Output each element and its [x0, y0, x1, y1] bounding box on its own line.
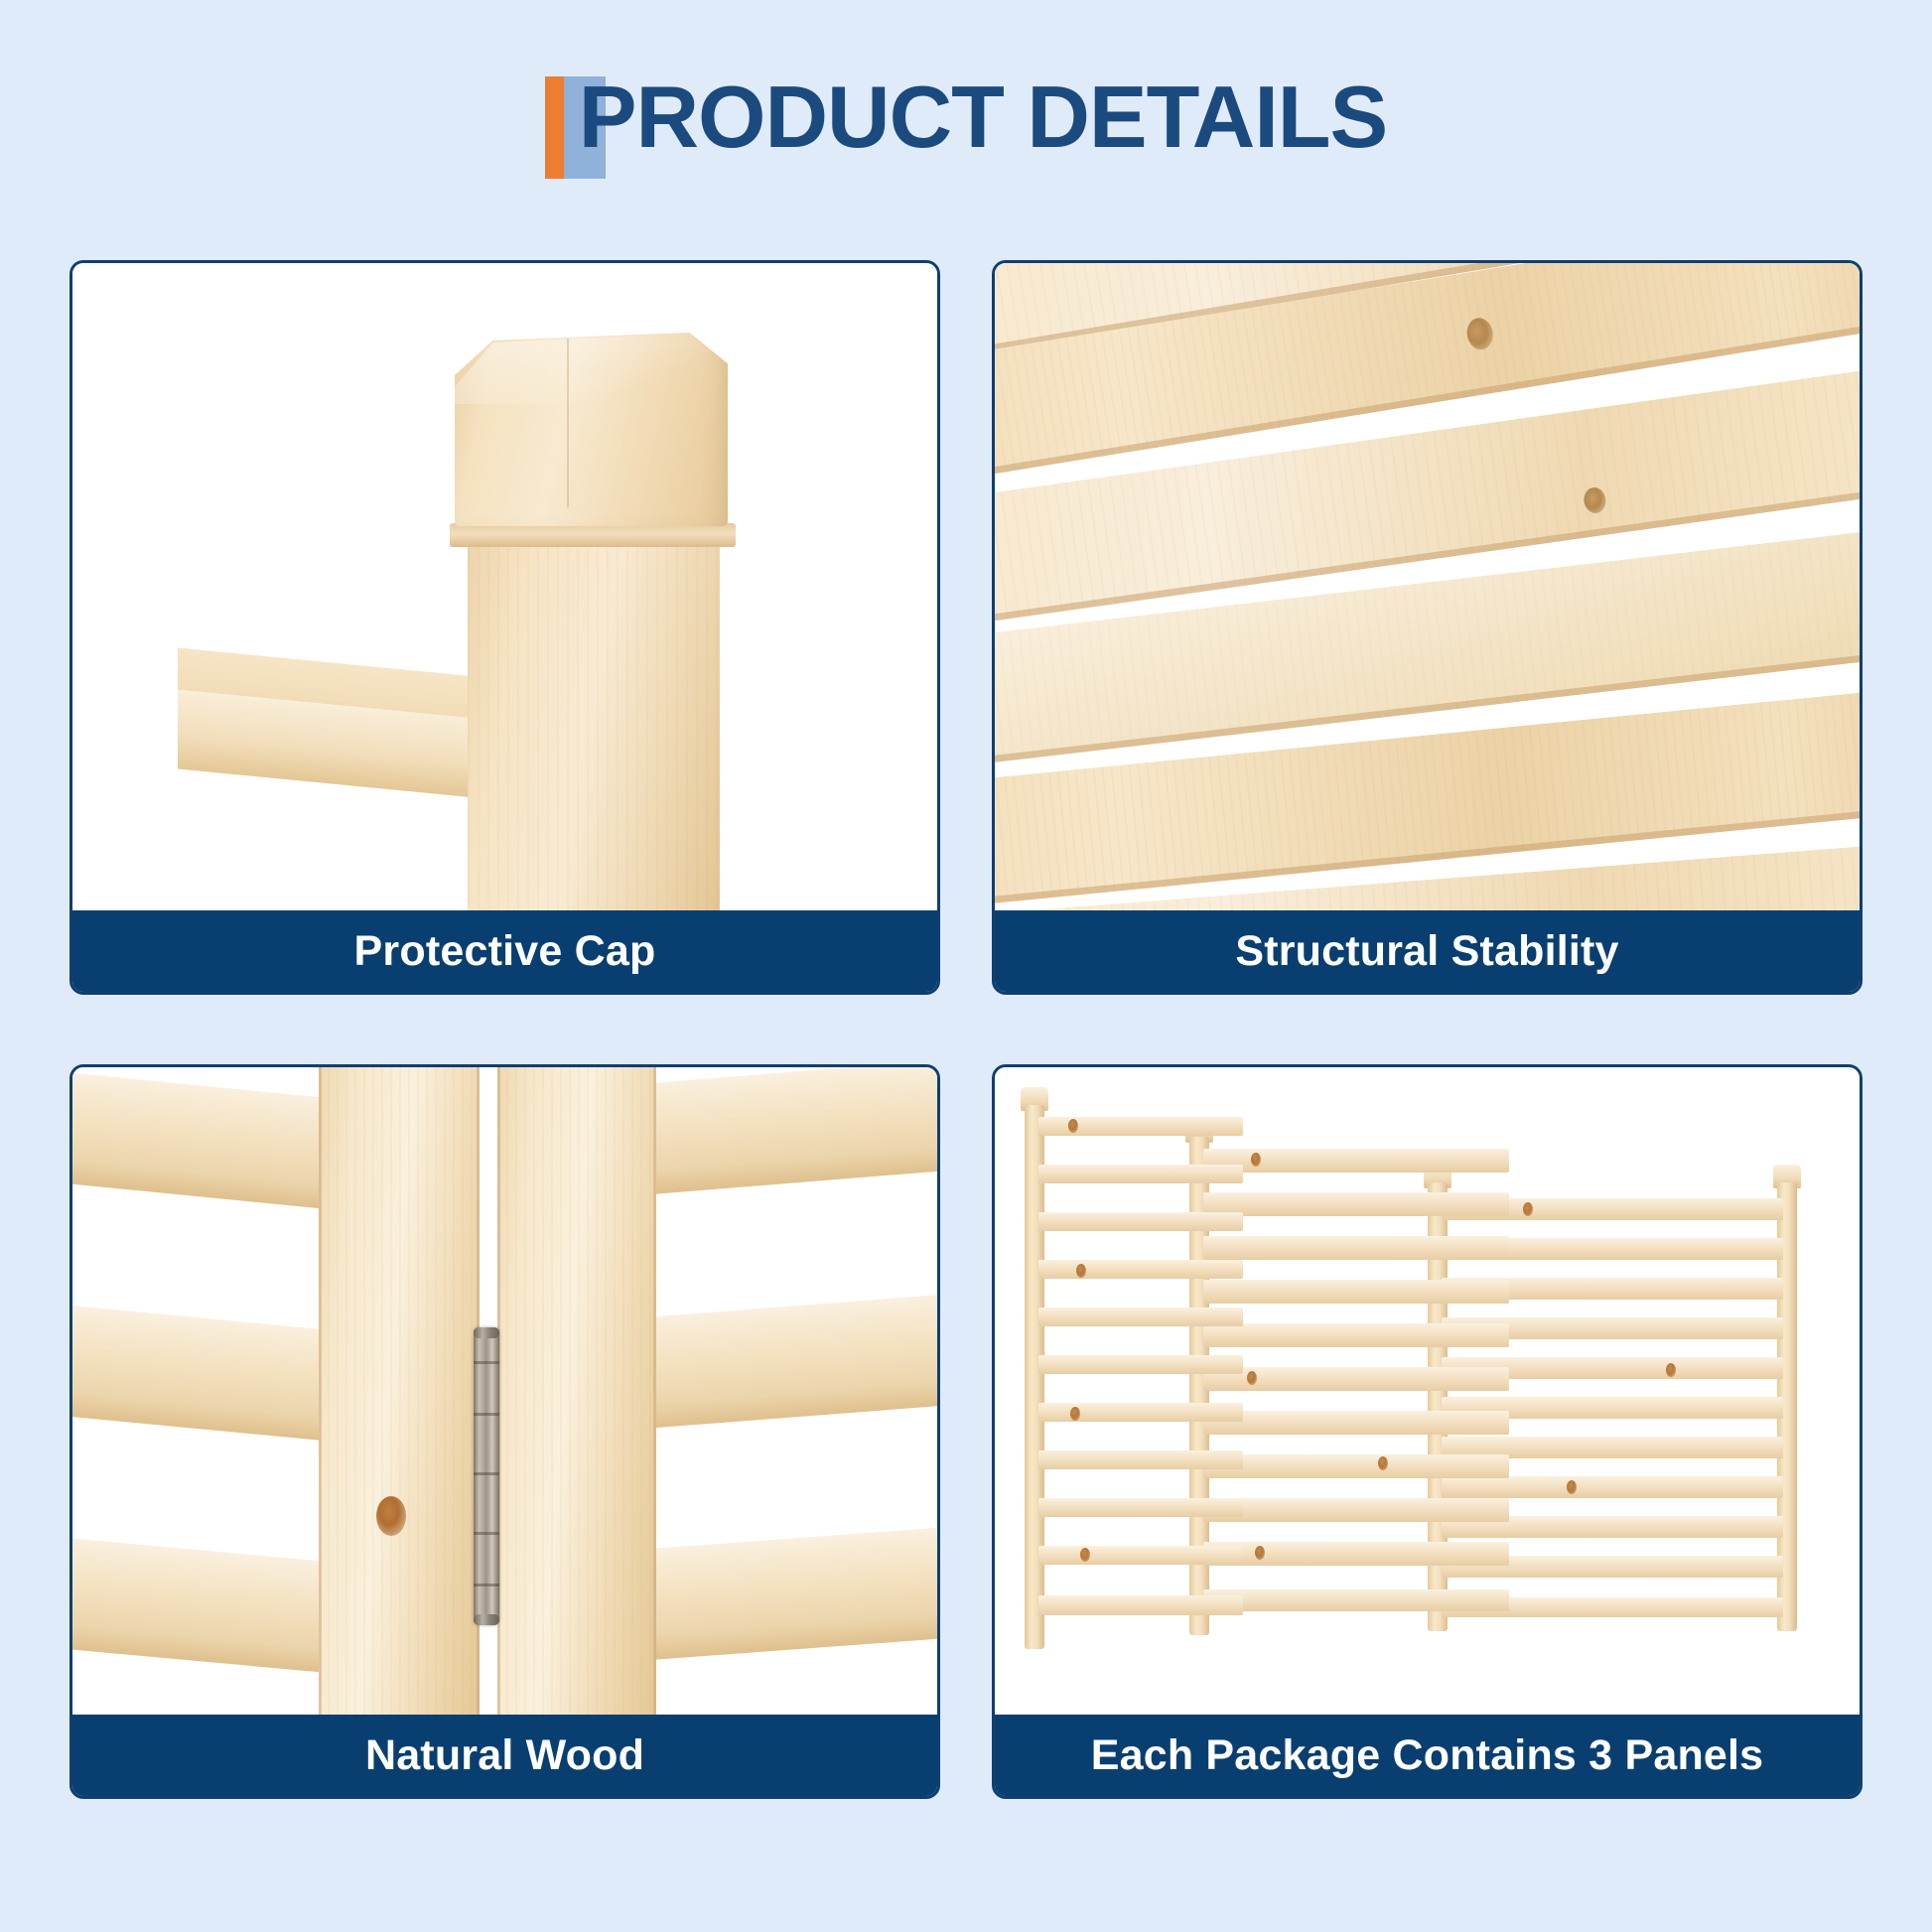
three-panels-image	[995, 1067, 1860, 1715]
left-slat-bottom	[72, 1538, 327, 1673]
right-slat-bottom	[650, 1527, 937, 1660]
wood-knot-icon	[376, 1496, 406, 1536]
wood-knot-icon	[1255, 1546, 1265, 1560]
structural-stability-image	[995, 263, 1860, 910]
hinge-knuckle	[474, 1584, 499, 1587]
wood-knot-icon	[1567, 1480, 1577, 1494]
wood-knot-icon	[1666, 1363, 1676, 1377]
panel-1-slat	[1038, 1212, 1243, 1231]
panel-2-slat	[1203, 1149, 1509, 1173]
angled-slats-illustration	[995, 263, 1860, 910]
panel-1-slat	[1038, 1450, 1243, 1469]
wood-knot-icon	[1583, 486, 1607, 515]
detail-card-structural-stability[interactable]: Structural Stability	[992, 260, 1863, 995]
hinge-knuckle	[474, 1532, 499, 1535]
panel-2-slat	[1203, 1454, 1509, 1478]
post-left	[319, 1067, 480, 1715]
natural-wood-image	[72, 1067, 937, 1715]
cap-top-bevel	[455, 333, 728, 404]
panel-2-bottom-rail	[1203, 1589, 1509, 1611]
panel-2-slat	[1203, 1280, 1509, 1304]
detail-card-protective-cap[interactable]: Protective Cap	[69, 260, 940, 995]
post-left-edge	[319, 1067, 322, 1715]
cap-lip	[450, 523, 736, 547]
left-slat-top	[72, 1072, 327, 1209]
hinge-knuckle	[474, 1472, 499, 1475]
panel-2-slat	[1203, 1192, 1509, 1216]
caption-natural-wood: Natural Wood	[72, 1715, 937, 1796]
wood-knot-icon	[1464, 316, 1495, 351]
panel-1-slat	[1038, 1403, 1243, 1422]
protective-cap-image	[72, 263, 937, 910]
page-header: PRODUCT DETAILS	[0, 58, 1932, 177]
wood-knot-icon	[1523, 1202, 1533, 1216]
panel-2-slat	[1203, 1542, 1509, 1566]
hinge-posts-illustration	[72, 1067, 937, 1715]
details-grid: Protective Cap	[69, 260, 1863, 1799]
hinge-cap-bottom	[474, 1614, 499, 1625]
title-group: PRODUCT DETAILS	[545, 58, 1387, 177]
panel-1-slat	[1038, 1308, 1243, 1326]
panel-2-slat	[1203, 1323, 1509, 1347]
wood-knot-icon	[1068, 1119, 1078, 1133]
piano-hinge-icon	[474, 1327, 499, 1625]
panel-1-bottom-rail	[1038, 1595, 1243, 1615]
caption-protective-cap: Protective Cap	[72, 910, 937, 992]
panel-1-slat	[1038, 1546, 1243, 1565]
cap-seam-line	[567, 339, 569, 507]
left-slat-middle	[72, 1306, 327, 1442]
accent-bar-orange-icon	[545, 76, 564, 179]
panel-1-post-left	[1025, 1105, 1044, 1649]
detail-card-natural-wood[interactable]: Natural Wood	[69, 1064, 940, 1799]
hinge-knuckle	[474, 1361, 499, 1364]
detail-card-three-panels[interactable]: Each Package Contains 3 Panels	[992, 1064, 1863, 1799]
caption-three-panels: Each Package Contains 3 Panels	[995, 1715, 1860, 1796]
panel-1-slat	[1038, 1355, 1243, 1374]
panel-2-slat	[1203, 1498, 1509, 1522]
page-title: PRODUCT DETAILS	[579, 73, 1387, 161]
post-body	[468, 544, 720, 910]
post-right	[497, 1067, 656, 1715]
panel-1-slat	[1038, 1498, 1243, 1517]
panel-1-slat	[1038, 1260, 1243, 1279]
wood-knot-icon	[1251, 1153, 1261, 1167]
right-slat-middle	[650, 1294, 937, 1428]
wood-knot-icon	[1080, 1548, 1090, 1562]
wood-knot-icon	[1378, 1456, 1388, 1470]
post-cap-illustration	[72, 263, 937, 910]
hinge-cap-top	[474, 1327, 499, 1338]
caption-structural-stability: Structural Stability	[995, 910, 1860, 992]
wood-knot-icon	[1247, 1371, 1257, 1385]
wood-knot-icon	[1076, 1264, 1086, 1278]
wood-knot-icon	[1070, 1407, 1080, 1421]
panel-1-slat	[1038, 1165, 1243, 1183]
hinge-knuckle	[474, 1413, 499, 1416]
right-slat-top	[650, 1067, 937, 1194]
panel-2-slat	[1203, 1411, 1509, 1435]
panel-2-slat	[1203, 1236, 1509, 1260]
screen-panel-1	[1025, 1087, 1243, 1649]
post-right-inner-edge	[653, 1067, 656, 1715]
product-details-infographic: PRODUCT DETAILS Protective Cap	[0, 0, 1932, 1932]
three-panel-screen-illustration	[995, 1067, 1860, 1715]
